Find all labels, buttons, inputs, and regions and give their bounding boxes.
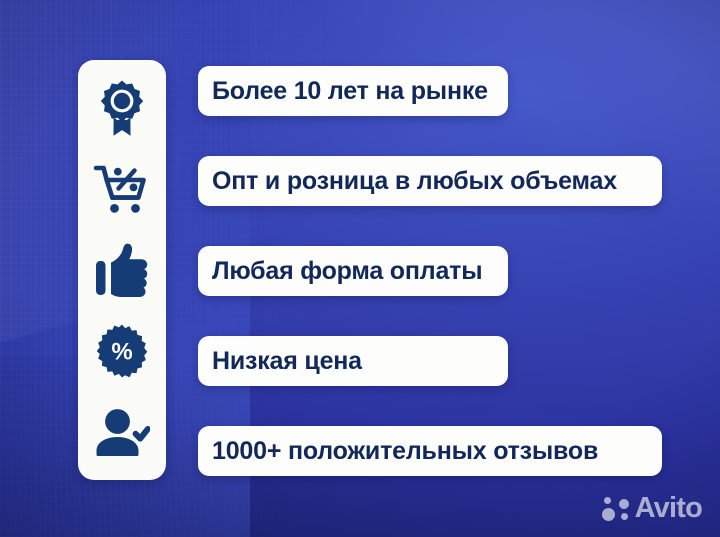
benefit-pill-4: Низкая цена <box>198 336 508 386</box>
percent-badge-icon: % <box>91 320 153 382</box>
icon-column: % <box>78 60 166 480</box>
benefit-label-2: Опт и розница в любых объемах <box>212 169 617 194</box>
award-ribbon-icon <box>91 77 153 139</box>
benefit-pill-1: Более 10 лет на рынке <box>198 66 508 116</box>
avito-dots-logo-icon <box>602 497 629 521</box>
benefit-pill-2: Опт и розница в любых объемах <box>198 156 662 206</box>
banner-canvas: % Более 10 лет на рынке Опт и розница в … <box>0 0 720 537</box>
avito-wordmark: Avito <box>635 494 702 523</box>
verified-user-icon <box>91 401 153 463</box>
benefit-pill-3: Любая форма оплаты <box>198 246 508 296</box>
thumbs-up-icon <box>91 239 153 301</box>
benefit-pill-5: 1000+ положительных отзывов <box>198 426 662 476</box>
discount-cart-icon <box>91 158 153 220</box>
benefit-list: Более 10 лет на рынке Опт и розница в лю… <box>198 66 662 476</box>
benefit-label-3: Любая форма оплаты <box>212 259 482 284</box>
benefit-label-1: Более 10 лет на рынке <box>212 79 488 104</box>
avito-watermark: Avito <box>602 494 702 523</box>
benefit-label-4: Низкая цена <box>212 349 362 374</box>
svg-text:%: % <box>111 338 132 365</box>
benefit-label-5: 1000+ положительных отзывов <box>212 439 598 464</box>
